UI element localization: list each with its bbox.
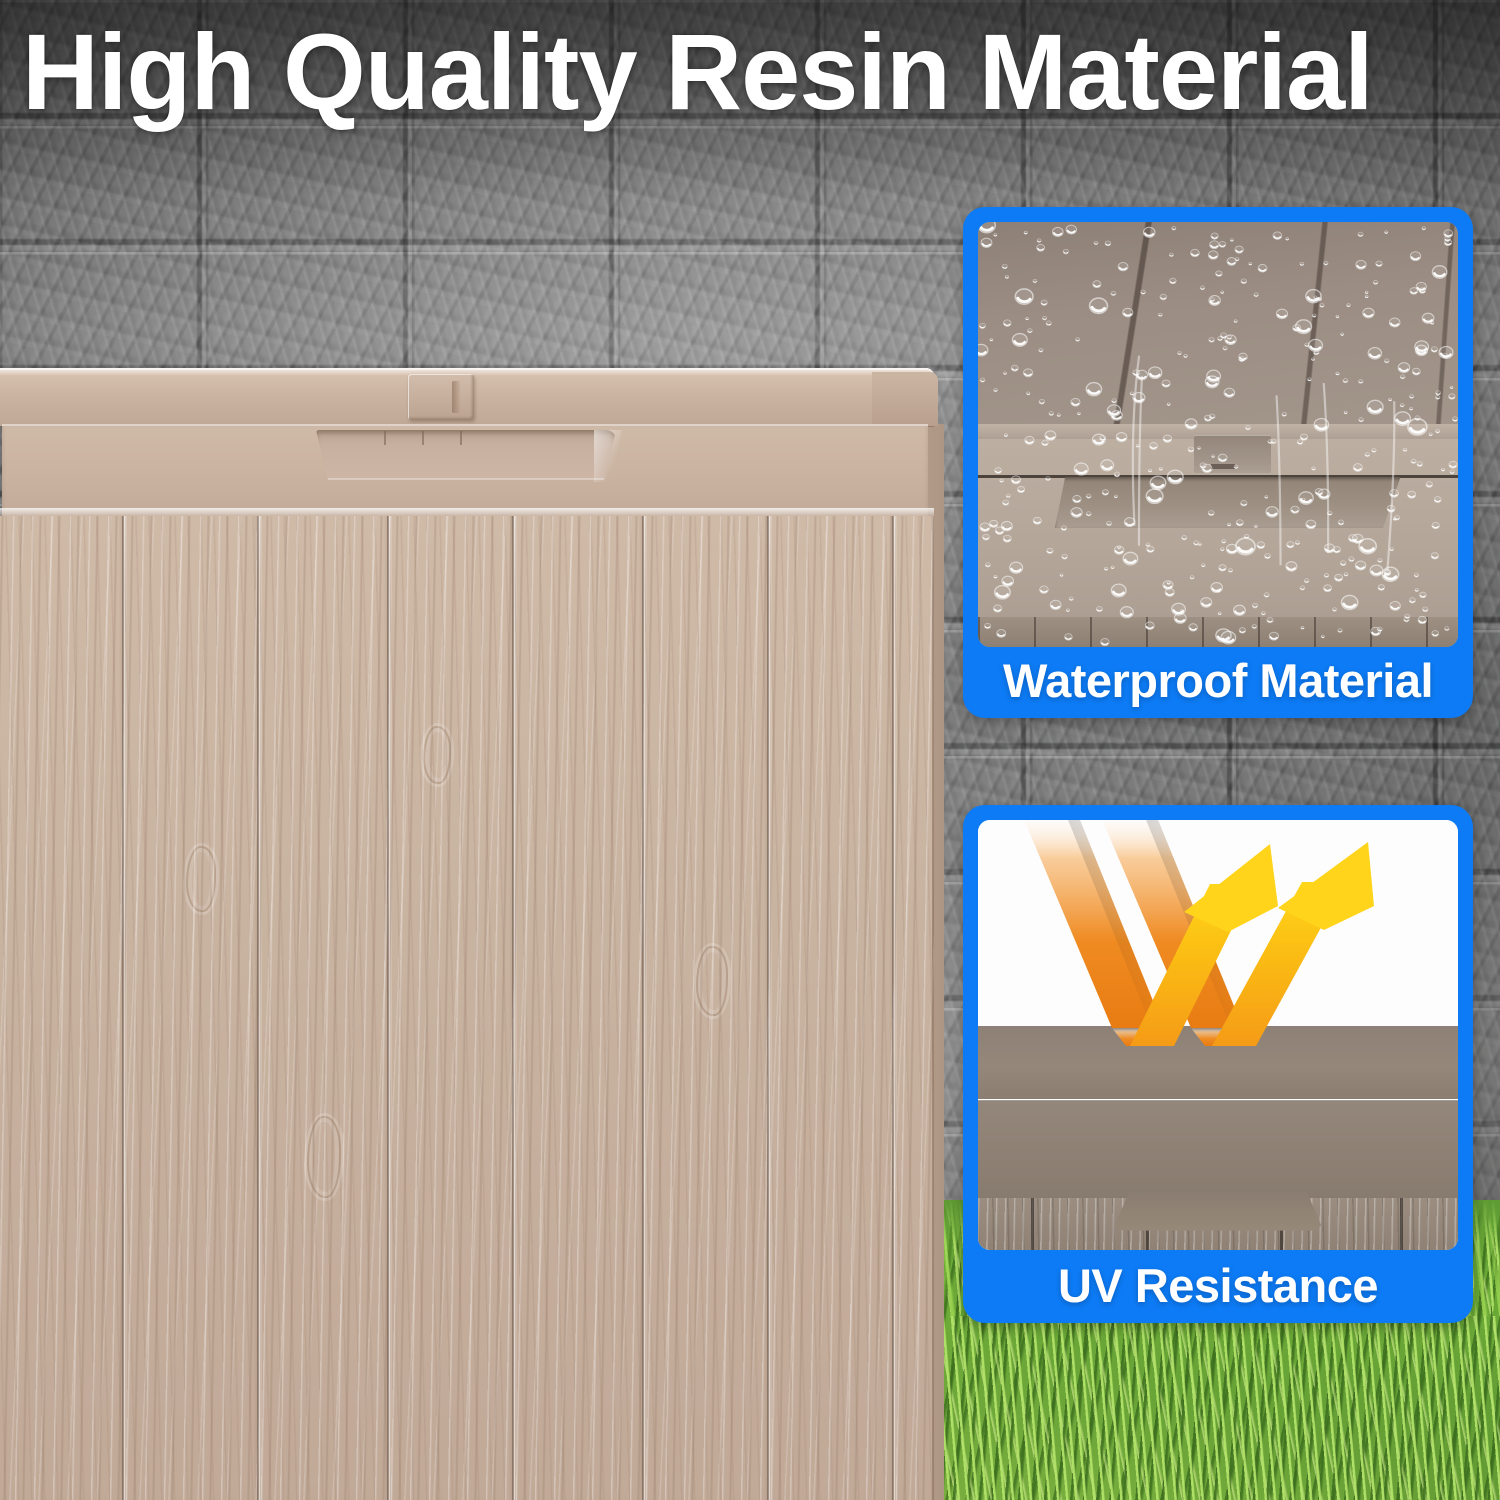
- wood-knot: [696, 946, 728, 1016]
- waterproof-label: Waterproof Material: [963, 642, 1473, 718]
- panel-seam: [257, 516, 260, 1500]
- wood-panel: [894, 516, 934, 1500]
- wood-panel: [0, 516, 124, 1500]
- box-front-panels: [0, 516, 934, 1500]
- lock-hasp: [408, 374, 474, 420]
- wood-panel: [259, 516, 389, 1500]
- handle-ribs: [384, 431, 494, 445]
- water-droplets-icon: [978, 222, 1458, 647]
- uv-scene: [978, 820, 1458, 1250]
- lock-hasp-slot: [452, 381, 460, 413]
- resin-deck-box: [0, 368, 944, 1378]
- waterproof-photo: [978, 222, 1458, 647]
- panel-seam: [642, 516, 645, 1500]
- panel-seam: [122, 516, 125, 1500]
- panel-seam: [387, 516, 390, 1500]
- wood-panel: [514, 516, 644, 1500]
- uv-photo: [978, 820, 1458, 1250]
- wood-panel: [124, 516, 259, 1500]
- panel-seam: [767, 516, 770, 1500]
- wood-knot: [186, 846, 216, 912]
- uv-rays-icon: [978, 820, 1458, 1250]
- feature-card-uv[interactable]: UV Resistance: [963, 805, 1473, 1323]
- waterproof-scene: [978, 222, 1458, 647]
- wood-panel: [644, 516, 769, 1500]
- page-title: High Quality Resin Material: [22, 16, 1460, 128]
- feature-card-waterproof[interactable]: Waterproof Material: [963, 207, 1473, 718]
- box-lid-right-end: [872, 372, 938, 426]
- uv-label: UV Resistance: [963, 1247, 1473, 1323]
- wood-knot: [307, 1116, 341, 1198]
- product-feature-banner: High Quality Resin Material: [0, 0, 1500, 1500]
- wood-panel: [389, 516, 514, 1500]
- panel-seam: [512, 516, 515, 1500]
- panel-seam: [892, 516, 895, 1500]
- wood-panel: [769, 516, 894, 1500]
- wood-knot: [423, 726, 451, 784]
